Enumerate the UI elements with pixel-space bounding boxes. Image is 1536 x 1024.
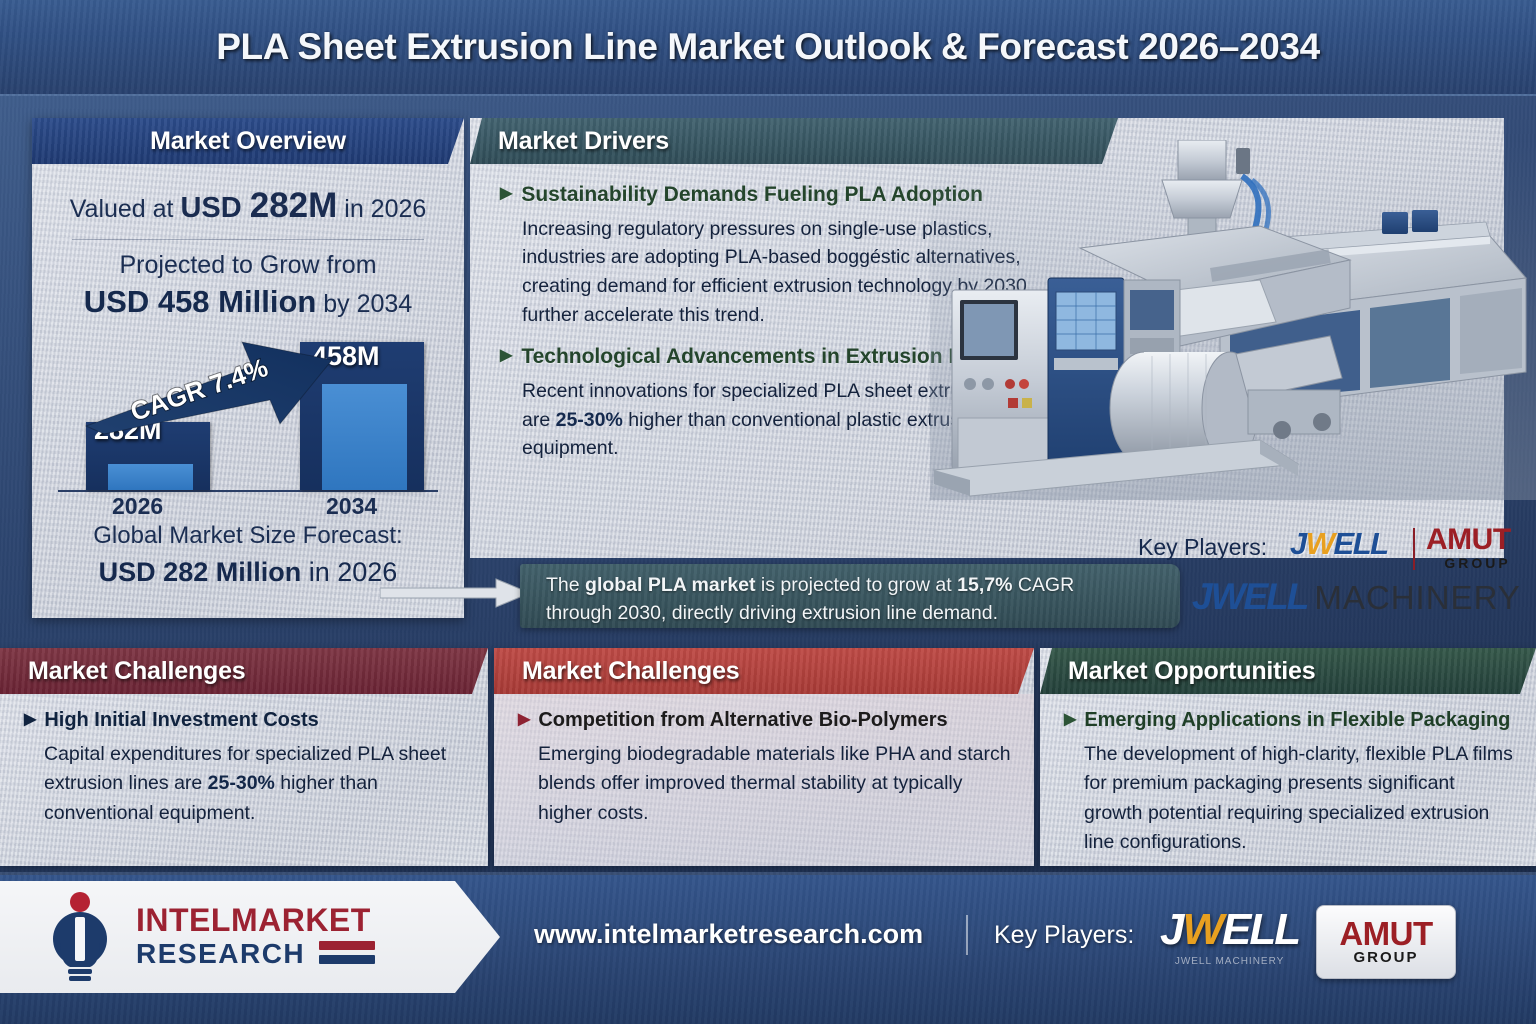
triangle-bullet-icon: ▶: [500, 182, 512, 205]
overview-value-2026: 282M: [250, 186, 338, 225]
panel-2-title: Competition from Alternative Bio-Polymer…: [538, 708, 947, 732]
logo-line-2: RESEARCH: [136, 938, 305, 970]
overview-projection-line: USD 458 Million by 2034: [50, 284, 446, 320]
panel-1-title-row: ▶ High Initial Investment Costs: [24, 708, 466, 732]
callout-pointer-arrow: [380, 578, 530, 608]
key-players-mid-label: Key Players:: [1138, 534, 1267, 561]
market-overview-body: Valued at USD 282M in 2026 Projected to …: [32, 164, 464, 618]
header-banner: PLA Sheet Extrusion Line Market Outlook …: [0, 0, 1536, 96]
footer-jwell-subtitle: JWELL MACHINERY: [1160, 956, 1299, 967]
overview-projection-label: Projected to Grow from: [50, 251, 446, 280]
bar-2026-inner: [108, 464, 192, 490]
market-overview-heading: Market Overview: [32, 118, 464, 164]
footer-jwell-letter-j: J: [1160, 905, 1182, 954]
infographic-canvas: PLA Sheet Extrusion Line Market Outlook …: [0, 0, 1536, 1024]
footer-divider: [966, 915, 968, 955]
footer-amut-group-label: GROUP: [1353, 949, 1418, 966]
triangle-bullet-icon: ▶: [24, 708, 36, 731]
market-challenges-panel-2: Market Challenges ▶ Competition from Alt…: [494, 648, 1034, 866]
lightbulb-icon: [42, 891, 118, 983]
amut-logo-mid[interactable]: AMUT GROUP: [1426, 526, 1511, 571]
jwell-letters-ell: ELL: [1334, 526, 1388, 561]
overview-valued-at: Valued at: [70, 195, 181, 223]
panel-3-title-row: ▶ Emerging Applications in Flexible Pack…: [1064, 708, 1514, 732]
jwell-machinery-letter-j: J: [1192, 576, 1211, 617]
footer-amut-logo[interactable]: AMUT GROUP: [1316, 905, 1456, 979]
panel-1-title: High Initial Investment Costs: [44, 708, 318, 732]
footer-jwell-wordmark: JWELL: [1160, 905, 1299, 955]
bar-2034-category-label: 2034: [326, 493, 377, 520]
intelmarket-wordmark: INTELMARKET RESEARCH: [136, 904, 375, 970]
jwell-wordmark: JWELL: [1290, 526, 1388, 562]
footer-jwell-logo[interactable]: JWELL JWELL MACHINERY: [1160, 905, 1299, 967]
panel-2-text: Emerging biodegradable materials like PH…: [538, 740, 1012, 828]
panel-2-title-row: ▶ Competition from Alternative Bio-Polym…: [518, 708, 1012, 732]
footer-jwell-letters-ell: ELL: [1222, 905, 1299, 954]
panel-2-body: ▶ Competition from Alternative Bio-Polym…: [494, 694, 1034, 866]
amut-group-label: GROUP: [1426, 555, 1511, 571]
footer-amut-wordmark: AMUT: [1339, 918, 1432, 949]
overview-divider: [72, 239, 424, 240]
footer-bar: INTELMARKET RESEARCH www.intelmarketrese…: [0, 872, 1536, 1024]
panel-3-body: ▶ Emerging Applications in Flexible Pack…: [1040, 694, 1536, 866]
panel-1-heading: Market Challenges: [0, 648, 488, 694]
market-opportunities-panel: Market Opportunities ▶ Emerging Applicat…: [1040, 648, 1536, 866]
footer-key-players-label: Key Players:: [994, 921, 1134, 950]
callout-line-1: The global PLA market is projected to gr…: [546, 572, 1164, 600]
panel-3-heading: Market Opportunities: [1040, 648, 1536, 694]
jwell-machinery-well: WELL: [1211, 576, 1308, 617]
logo-line-1: INTELMARKET: [136, 904, 375, 938]
overview-forecast-label: Global Market Size Forecast:: [50, 522, 446, 550]
jwell-machinery-logo[interactable]: JWELL MACHINERY: [1192, 576, 1521, 618]
driver-1-title: Sustainability Demands Fueling PLA Adopt…: [521, 182, 983, 208]
callout-post: CAGR: [1012, 574, 1074, 596]
page-title: PLA Sheet Extrusion Line Market Outlook …: [216, 26, 1320, 68]
market-size-bar-chart: 282M 2026 458M 2034 CAGR 7.4%: [50, 330, 446, 520]
panel-2-heading: Market Challenges: [494, 648, 1034, 694]
callout-bold-market: global PLA market: [585, 574, 755, 596]
jwell-machinery-mark: JWELL: [1192, 576, 1307, 618]
jwell-letter-j: J: [1290, 526, 1306, 561]
key-players-mid-block: Key Players: JWELL AMUT GROUP JWELL MACH…: [1130, 524, 1530, 628]
overview-valuation-line: Valued at USD 282M in 2026: [50, 186, 446, 226]
market-overview-panel: Market Overview Valued at USD 282M in 20…: [32, 118, 464, 618]
panel-1-text: Capital expenditures for specialized PLA…: [44, 740, 466, 828]
logo-line-2-row: RESEARCH: [136, 938, 375, 970]
triangle-bullet-icon: ▶: [518, 708, 530, 731]
callout-cagr-value: 15,7%: [957, 574, 1012, 596]
market-challenges-panel-1: Market Challenges ▶ High Initial Investm…: [0, 648, 488, 866]
cagr-growth-arrow: CAGR 7.4%: [84, 338, 334, 434]
chart-x-axis: [58, 490, 438, 492]
bar-2034-inner: [322, 384, 406, 490]
panel-1-stat: 25-30%: [208, 772, 275, 794]
extrusion-line-machine-image: [930, 140, 1536, 500]
logo-bars-icon: [319, 941, 375, 966]
overview-year-2026: in 2026: [337, 195, 426, 223]
jwell-logo-mid[interactable]: JWELL: [1290, 526, 1388, 562]
jwell-machinery-word: MACHINERY: [1314, 579, 1520, 617]
panel-3-text: The development of high-clarity, flexibl…: [1084, 740, 1514, 857]
bar-2026-category-label: 2026: [112, 493, 163, 520]
callout-line-2: through 2030, directly driving extrusion…: [546, 600, 1164, 628]
driver-2-stat: 25-30%: [556, 409, 623, 431]
key-players-divider: [1413, 528, 1415, 570]
triangle-bullet-icon: ▶: [500, 344, 512, 367]
callout-pre: The: [546, 574, 585, 596]
overview-value-2034: USD 458 Million: [84, 284, 317, 319]
overview-usd-label: USD: [180, 192, 249, 224]
overview-year-2034: by 2034: [316, 290, 412, 318]
website-url[interactable]: www.intelmarketresearch.com: [534, 919, 923, 950]
overview-forecast-amount: USD 282 Million: [99, 557, 302, 587]
panel-3-title: Emerging Applications in Flexible Packag…: [1084, 708, 1510, 732]
panel-1-body: ▶ High Initial Investment Costs Capital …: [0, 694, 488, 866]
triangle-bullet-icon: ▶: [1064, 708, 1076, 731]
callout-banner: The global PLA market is projected to gr…: [520, 564, 1180, 628]
callout-mid: is projected to grow at: [756, 574, 958, 596]
footer-jwell-letter-w: W: [1182, 905, 1222, 954]
intelmarket-logo-banner[interactable]: INTELMARKET RESEARCH: [0, 881, 500, 993]
amut-wordmark: AMUT: [1426, 526, 1511, 555]
jwell-letter-w: W: [1306, 526, 1334, 561]
